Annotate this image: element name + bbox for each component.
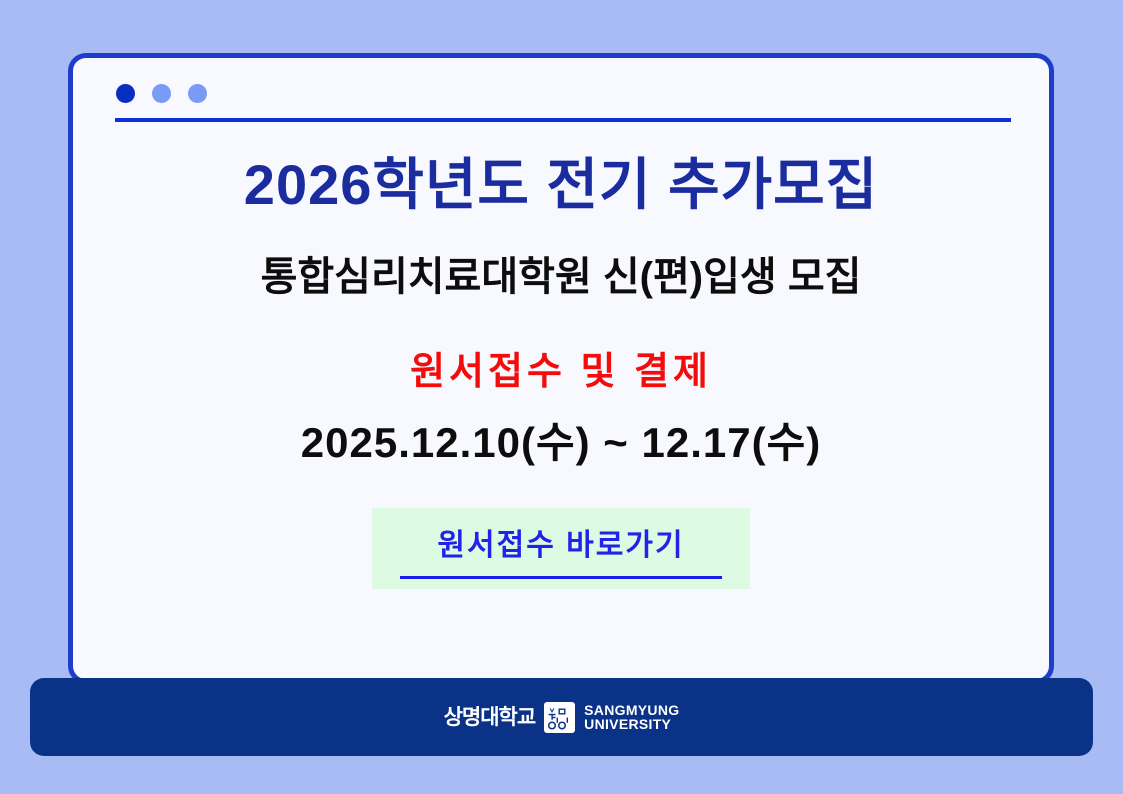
university-logo: 상명대학교 <box>444 702 680 733</box>
poster-card: 2026학년도 전기 추가모집 통합심리치료대학원 신(편)입생 모집 원서접수… <box>68 53 1054 684</box>
chrome-divider <box>115 118 1011 122</box>
window-dot-2-icon[interactable] <box>152 84 171 103</box>
footer-band: 상명대학교 <box>30 678 1093 756</box>
sangmyung-emblem-icon <box>544 702 575 733</box>
poster-accent-line: 원서접수 및 결제 <box>73 340 1049 395</box>
cta-container: 원서접수 바로가기 <box>73 508 1049 589</box>
university-name-latin: SANGMYUNG UNIVERSITY <box>584 703 679 732</box>
poster-subheadline: 통합심리치료대학원 신(편)입생 모집 <box>73 244 1049 302</box>
university-latin-line2: UNIVERSITY <box>584 717 679 731</box>
university-latin-line1: SANGMYUNG <box>584 703 679 717</box>
application-link-underline <box>400 576 722 579</box>
poster-headline: 2026학년도 전기 추가모집 <box>73 154 1049 216</box>
poster-date-line: 2025.12.10(수) ~ 12.17(수) <box>73 409 1049 470</box>
application-link-label: 원서접수 바로가기 <box>400 520 722 564</box>
window-dot-1-icon[interactable] <box>116 84 135 103</box>
poster-content: 2026학년도 전기 추가모집 통합심리치료대학원 신(편)입생 모집 원서접수… <box>73 154 1049 589</box>
university-name-korean: 상명대학교 <box>444 707 536 728</box>
window-chrome-dots <box>116 84 207 103</box>
application-link-button[interactable]: 원서접수 바로가기 <box>372 508 750 589</box>
window-dot-3-icon[interactable] <box>188 84 207 103</box>
